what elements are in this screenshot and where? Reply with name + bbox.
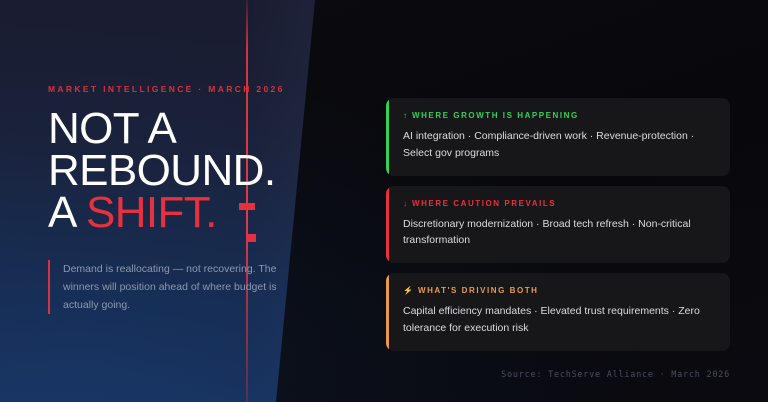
card-title-text-drivers: WHAT'S DRIVING BOTH [418, 286, 539, 295]
card-title-caution: ↓WHERE CAUTION PREVAILS [403, 199, 714, 208]
insight-card-caution: ↓WHERE CAUTION PREVAILS Discretionary mo… [386, 186, 730, 264]
arrow-down-icon: ↓ [403, 199, 407, 208]
card-body-drivers: Capital efficiency mandates · Elevated t… [403, 303, 714, 337]
insight-card-drivers: ⚡WHAT'S DRIVING BOTH Capital efficiency … [386, 273, 730, 351]
headline-line-3-prefix: A [48, 188, 86, 237]
source-footnote: Source: TechServe Alliance · March 2026 [501, 370, 730, 380]
insight-card-growth: ↑WHERE GROWTH IS HAPPENING AI integratio… [386, 98, 730, 176]
insight-card-list: ↑WHERE GROWTH IS HAPPENING AI integratio… [386, 98, 730, 361]
card-title-growth: ↑WHERE GROWTH IS HAPPENING [403, 111, 714, 120]
card-accent-bar-drivers [386, 273, 389, 351]
eyebrow-label: MARKET INTELLIGENCE · MARCH 2026 [48, 84, 298, 94]
headline-line-3-accent: SHIFT. [86, 188, 217, 237]
card-accent-bar-caution [386, 186, 389, 264]
slide-canvas: MARKET INTELLIGENCE · MARCH 2026 NOT A R… [0, 0, 768, 402]
subtext-blurb: Demand is reallocating — not recovering.… [48, 260, 278, 314]
card-body-growth: AI integration · Compliance-driven work … [403, 128, 714, 162]
card-title-drivers: ⚡WHAT'S DRIVING BOTH [403, 286, 714, 295]
card-accent-bar-growth [386, 98, 389, 176]
card-title-text-growth: WHERE GROWTH IS HAPPENING [412, 111, 579, 120]
lightning-bolt-icon: ⚡ [403, 286, 413, 295]
card-title-text-caution: WHERE CAUTION PREVAILS [412, 199, 556, 208]
left-content-column: MARKET INTELLIGENCE · MARCH 2026 NOT A R… [48, 84, 298, 314]
card-body-caution: Discretionary modernization · Broad tech… [403, 216, 714, 250]
arrow-up-icon: ↑ [403, 111, 407, 120]
page-title: NOT A REBOUND. A SHIFT. [48, 108, 298, 234]
